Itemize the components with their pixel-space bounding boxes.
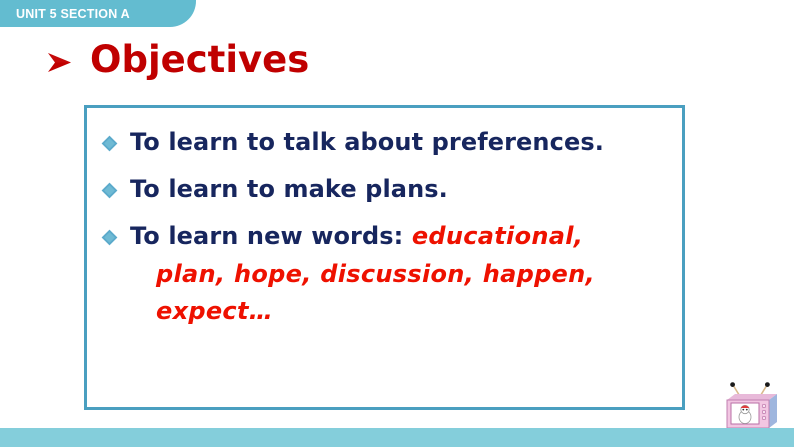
vocab-word-line-1: educational, [412,222,583,250]
page-title: Objectives [44,41,309,78]
objectives-box: To learn to talk about preferences. To l… [84,105,685,410]
slide-canvas: UNIT 5 SECTION A Objectives To learn to [0,0,794,447]
vocab-word-line-3: expect… [130,293,595,330]
objective-text-2: To learn to make plans. [130,171,448,208]
diamond-icon [101,229,118,246]
diamond-icon [101,135,118,152]
objectives-list: To learn to talk about preferences. To l… [87,108,682,340]
unit-section-tab-label: UNIT 5 SECTION A [0,7,130,21]
diamond-icon [101,182,118,199]
objective-text-3: To learn new words: educational, plan, h… [130,218,595,330]
vocab-word-line-2: plan, hope, discussion, happen, [130,256,595,293]
arrow-right-triangle-icon [44,48,74,78]
cartoon-television-icon [719,382,783,434]
objective-3-lead: To learn new words: [130,222,412,250]
list-item: To learn new words: educational, plan, h… [87,218,682,330]
page-title-text: Objectives [90,41,309,78]
objective-text-1: To learn to talk about preferences. [130,124,604,161]
list-item: To learn to talk about preferences. [87,124,682,161]
footer-bar [0,428,794,447]
unit-section-tab: UNIT 5 SECTION A [0,0,196,27]
list-item: To learn to make plans. [87,171,682,208]
